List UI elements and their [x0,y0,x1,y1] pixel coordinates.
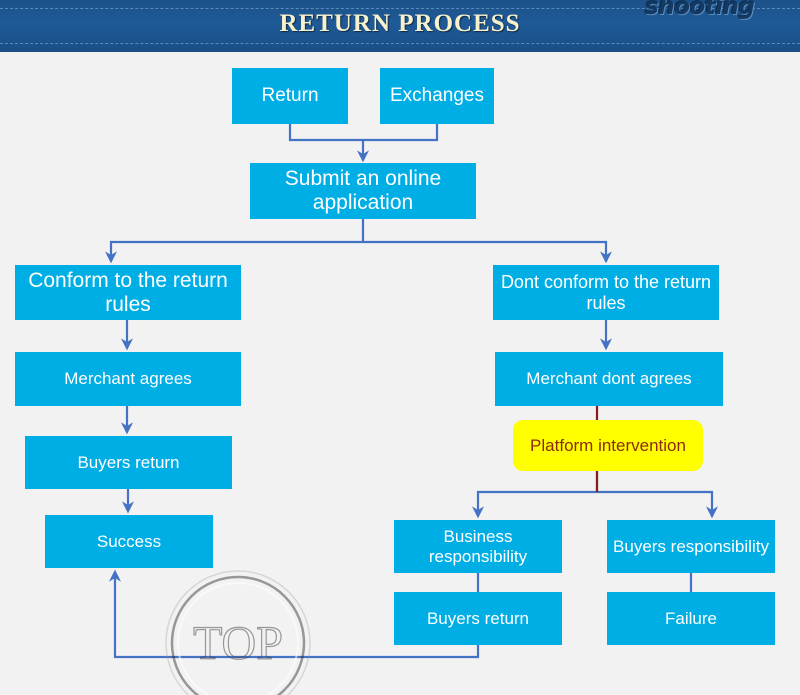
edge-split-right [363,242,606,261]
node-business-responsibility[interactable]: Business responsibility [394,520,562,573]
header-watermark-text: shooting [645,0,754,20]
node-submit-online-application[interactable]: Submit an online application [250,163,476,219]
node-label: Exchanges [390,85,484,106]
flowchart-page: RETURN PROCESS shooting [0,0,800,695]
node-label: Success [97,532,161,551]
node-merchant-dont-agrees[interactable]: Merchant dont agrees [495,352,723,406]
node-label: Submit an online application [254,167,472,214]
node-label: Return [261,85,318,106]
node-label: Buyers responsibility [613,537,769,556]
header-dashed-line-bottom [0,43,800,44]
edge-exchanges-to-submit [363,124,437,140]
flowchart-canvas: Return Exchanges Submit an online applic… [0,52,800,695]
node-return[interactable]: Return [232,68,348,124]
node-buyers-responsibility[interactable]: Buyers responsibility [607,520,775,573]
node-label: Buyers return [427,609,529,628]
node-label: Business responsibility [398,527,558,565]
node-label: Platform intervention [530,436,686,455]
node-label: Failure [665,609,717,628]
node-conform-to-return-rules[interactable]: Conform to the return rules [15,265,241,320]
node-label: Conform to the return rules [19,269,237,316]
node-label: Merchant agrees [64,369,192,388]
node-buyers-return-left[interactable]: Buyers return [25,436,232,489]
node-label: Merchant dont agrees [526,369,691,388]
node-success[interactable]: Success [45,515,213,568]
page-header: RETURN PROCESS shooting [0,0,800,52]
node-merchant-agrees[interactable]: Merchant agrees [15,352,241,406]
node-label: Buyers return [77,453,179,472]
edge-platform-split-right [597,492,712,516]
node-dont-conform-to-return-rules[interactable]: Dont conform to the return rules [493,265,719,320]
edge-split-left [111,242,363,261]
edge-return-to-submit [290,124,363,140]
edge-platform-split-left [478,492,597,516]
node-platform-intervention[interactable]: Platform intervention [513,420,703,471]
node-exchanges[interactable]: Exchanges [380,68,494,124]
node-failure[interactable]: Failure [607,592,775,645]
node-buyers-return-right[interactable]: Buyers return [394,592,562,645]
node-label: Dont conform to the return rules [497,272,715,312]
